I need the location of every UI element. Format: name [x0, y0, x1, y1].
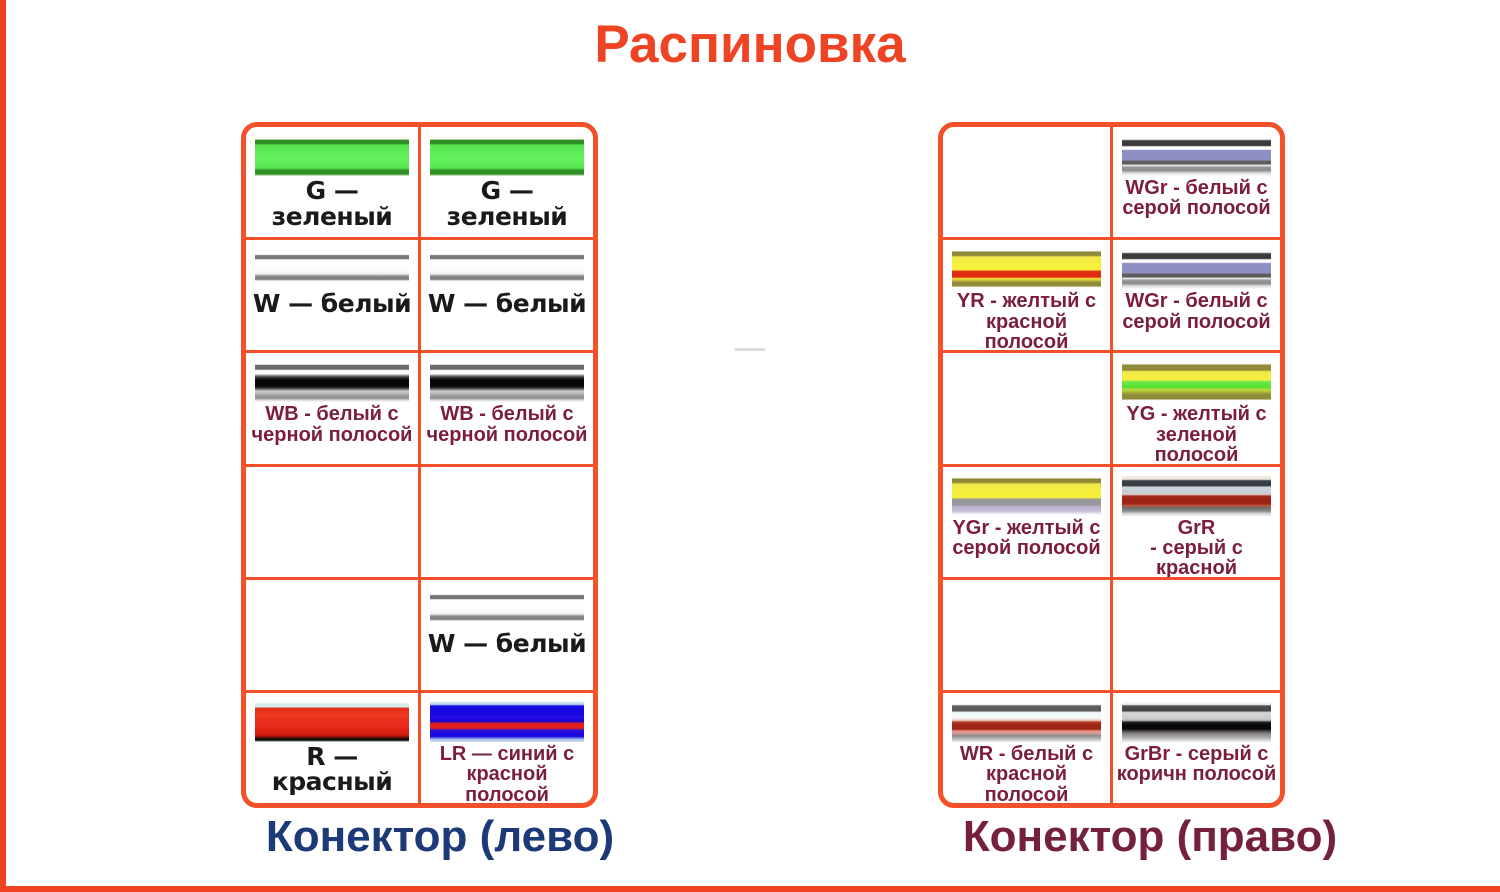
wire-swatch-white-black — [430, 362, 585, 402]
pin-cell[interactable]: R — красный — [246, 693, 418, 803]
pin-cell[interactable]: WR - белый с красной полосой — [943, 693, 1110, 803]
pin-cell[interactable]: GrR - серый с красной — [1113, 467, 1280, 580]
wire-label: WGr - белый с серой полосой — [1122, 291, 1270, 332]
wire-label: WB - белый с черной полосой — [252, 404, 413, 445]
wire-swatch-gray-brown — [1122, 702, 1272, 742]
connector-left-column-1: G — зеленыйW — белыйWB - белый с черной … — [246, 127, 421, 803]
wire-label: YGr - желтый с серой полосой — [952, 518, 1100, 559]
wire-label: G — зеленый — [423, 178, 591, 229]
page-title: Распиновка — [0, 14, 1500, 75]
wire-swatch-green — [430, 136, 585, 176]
wire-swatch-white-gray — [1122, 136, 1272, 176]
wire-label: LR — синий с красной полосой — [423, 744, 591, 803]
pin-cell-empty[interactable] — [246, 467, 418, 580]
pin-cell[interactable]: YR - желтый с красной полосой — [943, 240, 1110, 353]
wire-swatch-yellow-red — [952, 249, 1102, 289]
wire-swatch-yellow-green — [1122, 362, 1272, 402]
wire-swatch-yellow-gray — [952, 476, 1102, 516]
wire-label: R — красный — [248, 744, 416, 795]
connector-left: G — зеленыйW — белыйWB - белый с черной … — [241, 122, 598, 808]
pin-cell-empty[interactable] — [943, 127, 1110, 240]
wire-label: YR - желтый с красной полосой — [945, 291, 1108, 352]
pin-cell-empty[interactable] — [246, 580, 418, 693]
wire-label: W — белый — [253, 291, 411, 317]
wire-label: W — белый — [428, 291, 586, 317]
wire-swatch-white — [255, 249, 410, 289]
connector-right-column-2: WGr - белый с серой полосойWGr - белый с… — [1113, 127, 1280, 803]
wire-label: WGr - белый с серой полосой — [1122, 178, 1270, 219]
pin-cell[interactable]: G — зеленый — [246, 127, 418, 240]
wire-label: G — зеленый — [248, 178, 416, 229]
pin-cell[interactable]: W — белый — [421, 240, 593, 353]
connector-right-column-1: YR - желтый с красной полосойYGr - желты… — [943, 127, 1113, 803]
wire-label: WR - белый с красной полосой — [945, 744, 1108, 803]
connector-left-column-2: G — зеленыйW — белыйWB - белый с черной … — [421, 127, 593, 803]
left-accent-bar — [0, 0, 6, 892]
pin-cell-empty[interactable] — [421, 467, 593, 580]
wire-swatch-green — [255, 136, 410, 176]
wire-label: GrBr - серый с коричн полосой — [1117, 744, 1277, 785]
pin-cell[interactable]: WGr - белый с серой полосой — [1113, 240, 1280, 353]
pin-cell[interactable]: WGr - белый с серой полосой — [1113, 127, 1280, 240]
wire-swatch-red — [255, 702, 410, 742]
pin-cell[interactable]: YG - желтый с зеленой полосой — [1113, 353, 1280, 466]
pin-cell-empty[interactable] — [943, 580, 1110, 693]
bottom-accent-bar — [0, 886, 1500, 892]
wire-swatch-blue-red — [430, 702, 585, 742]
pin-cell[interactable]: WB - белый с черной полосой — [421, 353, 593, 466]
pin-cell[interactable]: G — зеленый — [421, 127, 593, 240]
wire-label: WB - белый с черной полосой — [427, 404, 588, 445]
pin-cell[interactable]: LR — синий с красной полосой — [421, 693, 593, 803]
pin-cell[interactable]: GrBr - серый с коричн полосой — [1113, 693, 1280, 803]
connector-left-caption: Конектор (лево) — [120, 812, 760, 862]
pin-cell[interactable]: YGr - желтый с серой полосой — [943, 467, 1110, 580]
wire-swatch-white — [430, 249, 585, 289]
pin-cell-empty[interactable] — [943, 353, 1110, 466]
wire-swatch-white-red — [952, 702, 1102, 742]
wire-label: YG - желтый с зеленой полосой — [1115, 404, 1278, 465]
wire-swatch-white-gray — [1122, 249, 1272, 289]
pin-cell[interactable]: WB - белый с черной полосой — [246, 353, 418, 466]
wire-swatch-white-black — [255, 362, 410, 402]
wire-label: GrR - серый с красной — [1115, 518, 1278, 579]
pin-cell-empty[interactable] — [1113, 580, 1280, 693]
pin-cell[interactable]: W — белый — [246, 240, 418, 353]
wire-swatch-white — [430, 589, 585, 629]
pin-cell[interactable]: W — белый — [421, 580, 593, 693]
connector-right: YR - желтый с красной полосойYGr - желты… — [938, 122, 1285, 808]
wire-label: W — белый — [428, 631, 586, 657]
wire-swatch-gray-red — [1122, 476, 1272, 516]
connector-right-caption: Конектор (право) — [800, 812, 1500, 862]
faint-divider-mark — [735, 348, 765, 351]
